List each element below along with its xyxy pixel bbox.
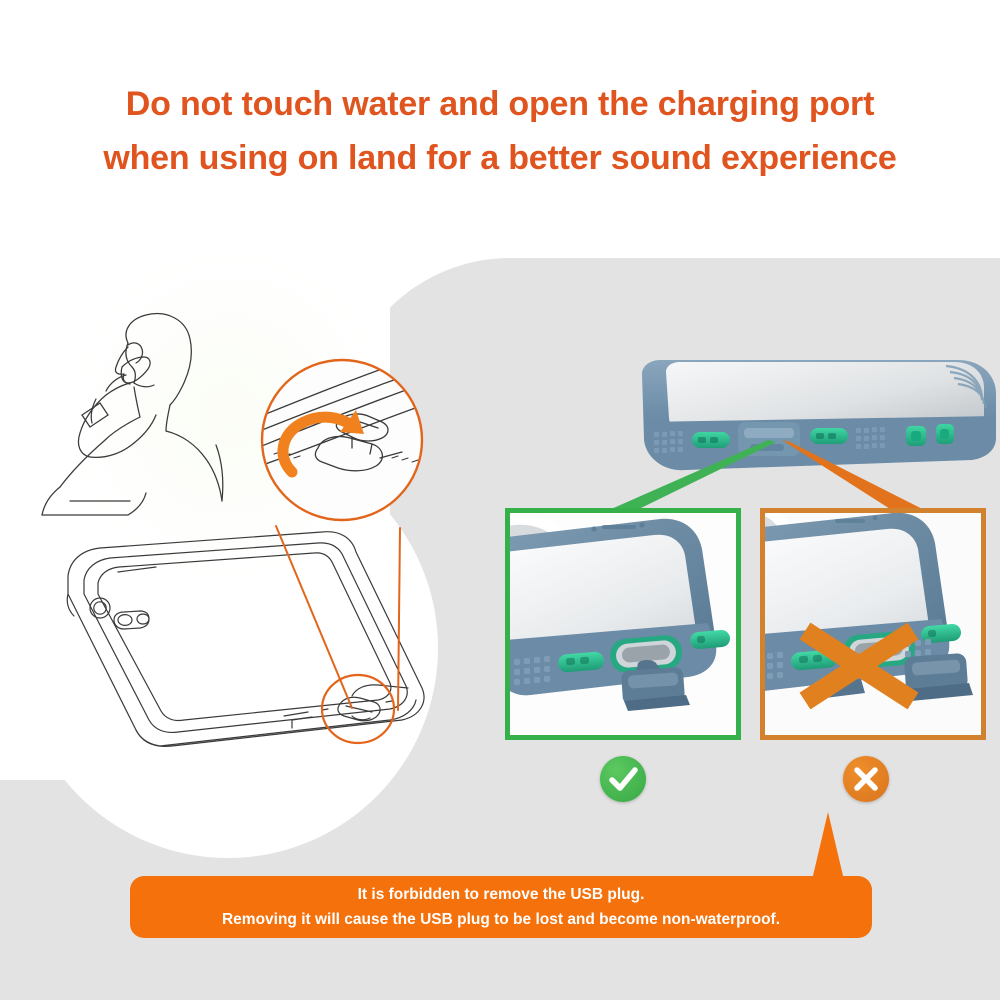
headline-line-1: Do not touch water and open the charging… bbox=[126, 85, 874, 123]
panel-correct-usb-plug-attached bbox=[505, 508, 741, 740]
page-headline: Do not touch water and open the charging… bbox=[0, 78, 1000, 185]
case-with-plug-attached-photo bbox=[510, 513, 736, 735]
panel-incorrect-usb-plug-removed bbox=[760, 508, 986, 740]
caption-pointer-arrow bbox=[800, 812, 860, 882]
charging-port-magnifier bbox=[252, 352, 432, 532]
status-badge-correct bbox=[600, 756, 646, 802]
status-badge-incorrect bbox=[843, 756, 889, 802]
warning-caption-banner: It is forbidden to remove the USB plug. … bbox=[130, 876, 872, 938]
headline-line-2: when using on land for a better sound ex… bbox=[0, 132, 1000, 186]
caption-line-2: Removing it will cause the USB plug to b… bbox=[222, 907, 780, 932]
caption-line-1: It is forbidden to remove the USB plug. bbox=[358, 882, 645, 907]
case-with-plug-removed-photo bbox=[765, 513, 981, 735]
cross-icon bbox=[843, 756, 889, 802]
infographic-canvas: Do not touch water and open the charging… bbox=[0, 0, 1000, 1000]
check-icon bbox=[600, 756, 646, 802]
